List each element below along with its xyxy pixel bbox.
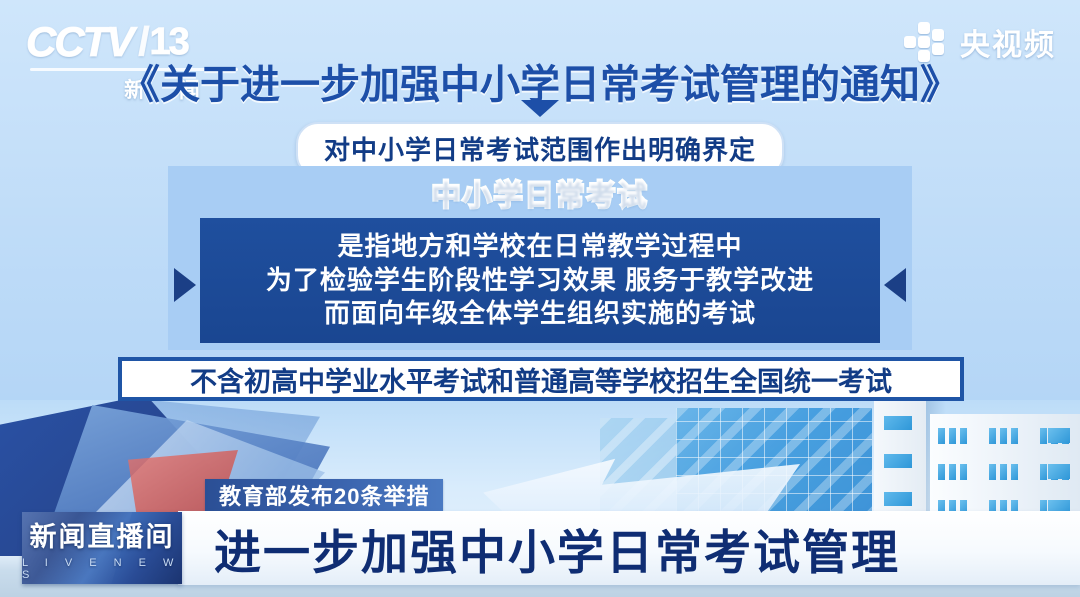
lower-third-headline-bar: 进一步加强中小学日常考试管理: [178, 511, 1080, 585]
triangle-right-icon: [174, 268, 196, 302]
program-brand-badge: 新闻直播间 L I V E N E W S: [22, 512, 182, 584]
exclusion-note: 不含初高中学业水平考试和普通高等学校招生全国统一考试: [118, 357, 964, 401]
definition-text-box: 是指地方和学校在日常教学过程中 为了检验学生阶段性学习效果 服务于教学改进 而面…: [200, 218, 880, 343]
triangle-left-icon: [884, 268, 906, 302]
lower-third-kicker: 教育部发布20条举措: [205, 479, 443, 511]
lower-third-headline-text: 进一步加强中小学日常考试管理: [214, 514, 900, 583]
program-name-cn: 新闻直播间: [30, 515, 175, 554]
chevron-down-triangle-icon: [521, 100, 559, 117]
broadcast-frame: CCTV / 13 新 闻 央视频 《关于进一步加强中小学日常考试管理的通知》 …: [0, 0, 1080, 597]
program-name-en: L I V E N E W S: [22, 557, 182, 581]
definition-line: 为了检验学生阶段性学习效果 服务于教学改进: [266, 265, 814, 297]
definition-panel-heading: 中小学日常考试: [168, 172, 912, 214]
definition-line: 而面向年级全体学生组织实施的考试: [324, 298, 756, 330]
definition-line: 是指地方和学校在日常教学过程中: [337, 231, 742, 263]
